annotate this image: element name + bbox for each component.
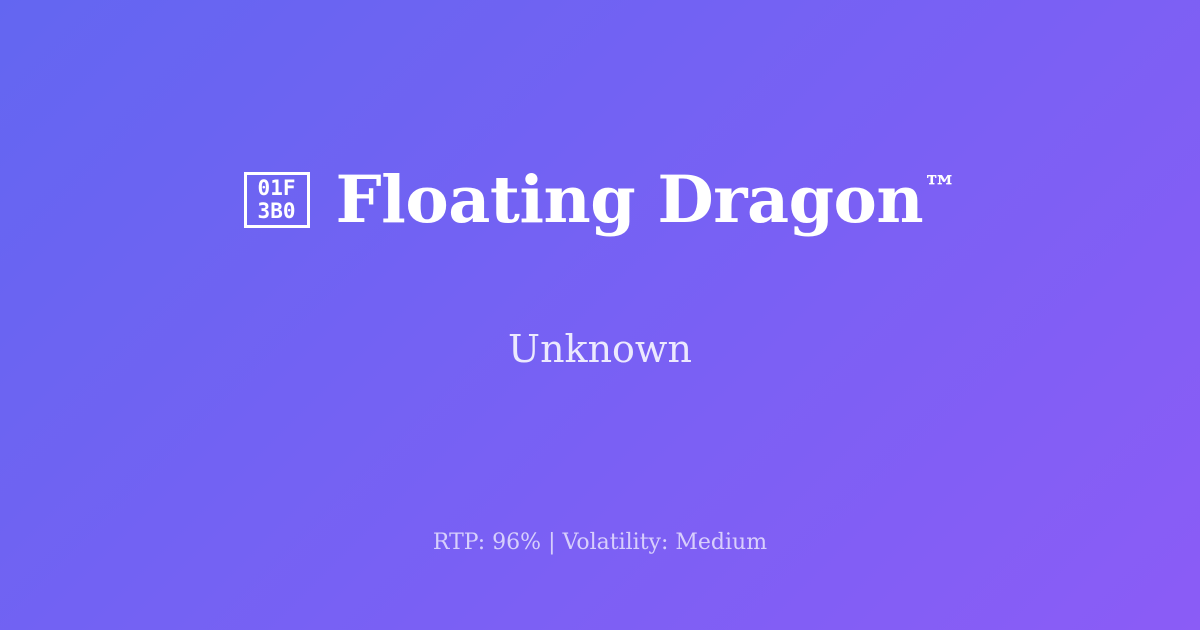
card-main-content: 01F 3B0 Floating Dragon™ Unknown <box>0 0 1200 492</box>
game-title-text: Floating Dragon <box>336 162 924 238</box>
game-og-card: 01F 3B0 Floating Dragon™ Unknown RTP: 96… <box>0 0 1200 630</box>
game-stats-line: RTP: 96% | Volatility: Medium <box>0 532 1200 554</box>
tofu-codepoint-bottom: 3B0 <box>258 200 296 223</box>
page-title: Floating Dragon™ <box>336 168 957 233</box>
title-row: 01F 3B0 Floating Dragon™ <box>244 124 957 276</box>
provider-name: Unknown <box>508 330 692 368</box>
slot-machine-emoji-missing-glyph-icon: 01F 3B0 <box>244 172 310 228</box>
trademark-symbol: ™ <box>923 167 956 207</box>
card-footer: RTP: 96% | Volatility: Medium <box>0 532 1200 554</box>
tofu-codepoint-top: 01F <box>258 177 296 200</box>
